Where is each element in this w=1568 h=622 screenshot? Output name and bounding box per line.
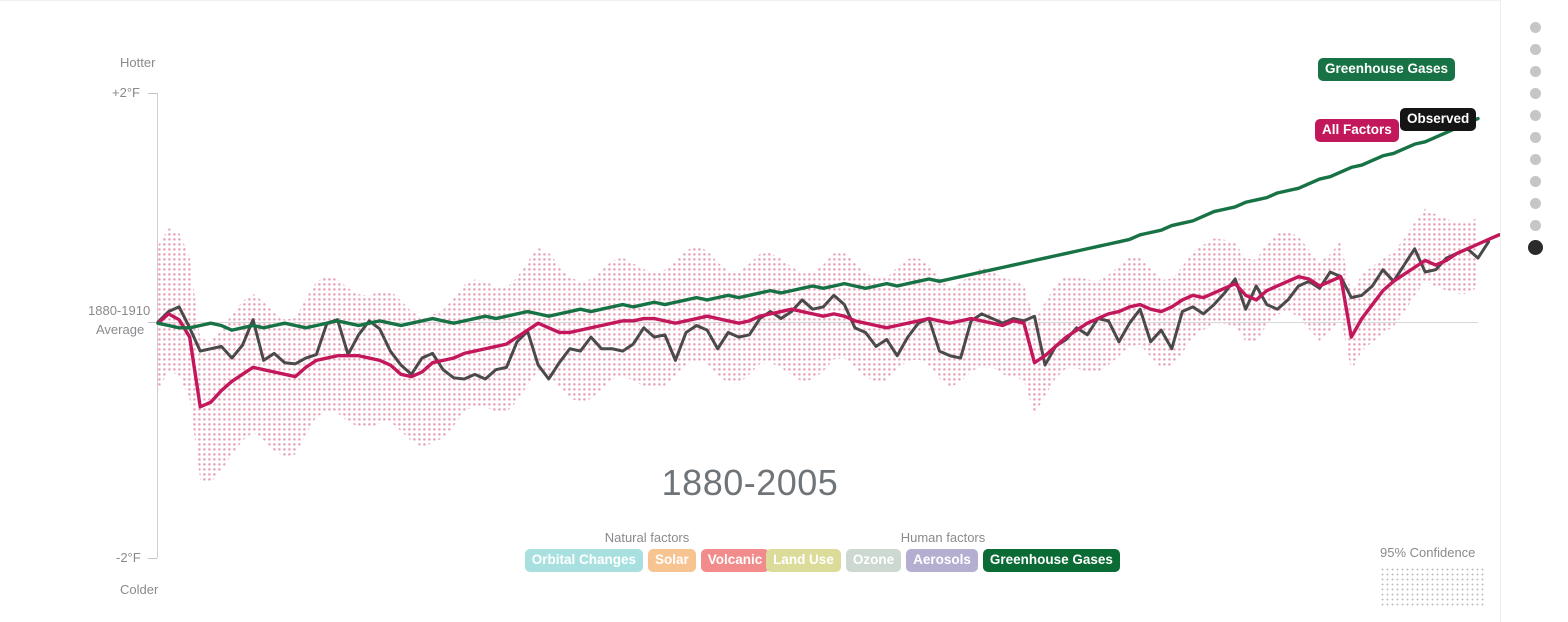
pagination-dot[interactable] [1530, 154, 1541, 165]
factor-group-natural: Natural factors Orbital Changes Solar Vo… [482, 530, 812, 572]
axis-label-colder: Colder [120, 582, 158, 597]
factor-chip-greenhouse-gases[interactable]: Greenhouse Gases [983, 549, 1120, 572]
factor-chip-ozone[interactable]: Ozone [846, 549, 901, 572]
y-axis-tick-bottom [148, 558, 157, 559]
y-tick-label-baseline-line1: 1880-1910 [88, 303, 150, 318]
confidence-legend-label: 95% Confidence [1380, 545, 1500, 560]
series-label-greenhouse-gases[interactable]: Greenhouse Gases [1318, 58, 1455, 81]
y-tick-label-top: +2°F [112, 85, 140, 100]
pagination-dot[interactable] [1530, 220, 1541, 231]
confidence-legend: 95% Confidence [1380, 545, 1500, 607]
pagination-dot[interactable] [1530, 66, 1541, 77]
y-tick-label-bottom: -2°F [116, 550, 141, 565]
pagination-dot[interactable] [1530, 198, 1541, 209]
pagination-dot[interactable] [1530, 110, 1541, 121]
pagination-dot[interactable] [1530, 132, 1541, 143]
confidence-legend-swatch [1380, 567, 1484, 607]
factor-group-human: Human factors Land Use Ozone Aerosols Gr… [778, 530, 1108, 572]
series-label-observed[interactable]: Observed [1400, 108, 1476, 131]
pagination-dot[interactable] [1530, 22, 1541, 33]
factor-chips-human: Land Use Ozone Aerosols Greenhouse Gases [778, 549, 1108, 572]
factor-chip-land-use[interactable]: Land Use [766, 549, 841, 572]
chart-title: 1880-2005 [0, 462, 1500, 504]
slide-pagination-rail[interactable] [1500, 0, 1568, 622]
factor-chips-natural: Orbital Changes Solar Volcanic [482, 549, 812, 572]
chart-page: Hotter Colder +2°F -2°F 1880-1910 Averag… [0, 0, 1568, 622]
axis-label-hotter: Hotter [120, 55, 155, 70]
factor-chip-volcanic[interactable]: Volcanic [701, 549, 770, 572]
factor-group-natural-title: Natural factors [482, 530, 812, 545]
y-axis-tick-middle [148, 322, 157, 323]
climate-attribution-chart: Hotter Colder +2°F -2°F 1880-1910 Averag… [0, 0, 1500, 622]
factor-chip-solar[interactable]: Solar [648, 549, 696, 572]
pagination-dot-active[interactable] [1528, 240, 1543, 255]
pagination-dot[interactable] [1530, 88, 1541, 99]
factor-chip-aerosols[interactable]: Aerosols [906, 549, 978, 572]
y-axis-tick-top [148, 93, 157, 94]
pagination-dot[interactable] [1530, 44, 1541, 55]
confidence-band [158, 209, 1478, 483]
factor-chip-orbital-changes[interactable]: Orbital Changes [525, 549, 643, 572]
factor-group-human-title: Human factors [778, 530, 1108, 545]
pagination-dot[interactable] [1530, 176, 1541, 187]
y-tick-label-baseline-line2: Average [96, 322, 144, 337]
series-label-all-factors[interactable]: All Factors [1315, 119, 1399, 142]
